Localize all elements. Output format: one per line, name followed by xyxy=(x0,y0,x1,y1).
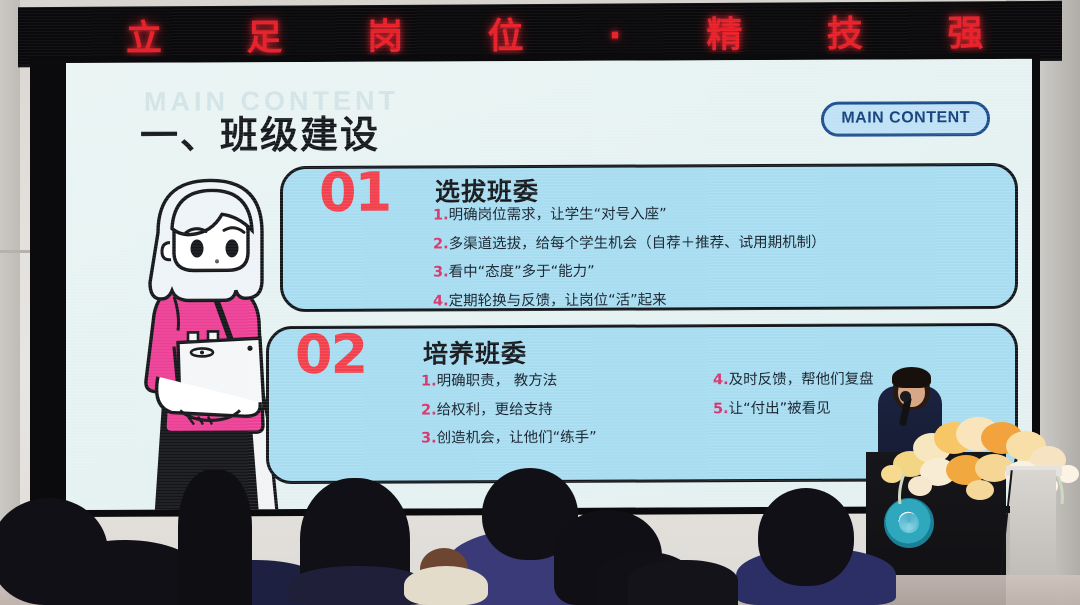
school-emblem-inner xyxy=(899,513,918,532)
list-item: 4.及时反馈，帮他们复盘 xyxy=(713,373,874,388)
bullet-text: 给权利，更给支持 xyxy=(437,401,553,418)
bullet-number: 1. xyxy=(433,207,449,223)
bullet-text: 多渠道选拔，给每个学生机会（自荐＋推荐、试用期机制） xyxy=(449,234,826,252)
presenter-hair xyxy=(892,367,931,388)
conference-room-scene: 立 足 岗 位 · 精 技 强 能 MAIN CONTENT 一、班级建设 MA… xyxy=(0,0,1080,605)
list-item: 3.看中“态度”多于“能力” xyxy=(433,264,826,280)
section-heading-02: 培养班委 xyxy=(423,334,527,370)
status-badge: MAIN CONTENT xyxy=(821,101,990,137)
bullet-text: 创造机会，让他们“练手” xyxy=(437,430,597,447)
audience-head xyxy=(178,470,252,605)
audience-head xyxy=(628,560,738,605)
bullet-list-02-left: 1.明确职责， 教方法 2.给权利，更给支持 3.创造机会，让他们“练手” xyxy=(421,374,597,460)
audience-head xyxy=(758,488,854,586)
hair-bun-wrap xyxy=(404,566,488,605)
bullet-number: 4. xyxy=(713,372,729,388)
microphone-head-icon xyxy=(900,391,911,402)
bullet-text: 及时反馈，帮他们复盘 xyxy=(729,372,874,389)
bullet-text: 让“付出”被看见 xyxy=(729,400,831,416)
wall-seam xyxy=(0,250,30,253)
list-item: 3.创造机会，让他们“练手” xyxy=(421,431,597,446)
list-item: 2.多渠道选拔，给每个学生机会（自荐＋推荐、试用期机制） xyxy=(433,235,826,251)
list-item: 1.明确岗位需求，让学生“对号入座” xyxy=(433,207,826,223)
list-item: 4.定期轮换与反馈，让岗位“活”起来 xyxy=(433,292,826,308)
bullet-text: 明确岗位需求，让学生“对号入座” xyxy=(449,206,667,223)
bullet-number: 1. xyxy=(421,373,437,389)
section-number-01: 01 xyxy=(319,161,390,224)
list-item: 2.给权利，更给支持 xyxy=(421,402,597,417)
bullet-number: 2. xyxy=(421,402,437,418)
bullet-number: 2. xyxy=(433,236,449,252)
bullet-number: 5. xyxy=(713,401,729,417)
list-item: 5.让“付出”被看见 xyxy=(713,401,874,416)
section-number-02: 02 xyxy=(295,323,366,386)
section-heading-01: 选拔班委 xyxy=(435,172,539,208)
bullet-number: 3. xyxy=(433,264,449,280)
content-card-01: 01 选拔班委 1.明确岗位需求，让学生“对号入座” 2.多渠道选拔，给每个学生… xyxy=(280,163,1018,312)
bullet-list-02-right: 4.及时反馈，帮他们复盘 5.让“付出”被看见 xyxy=(713,373,874,431)
bullet-text: 明确职责， 教方法 xyxy=(437,373,558,390)
bullet-number: 3. xyxy=(421,430,437,446)
bullet-text: 定期轮换与反馈，让岗位“活”起来 xyxy=(449,292,667,309)
bullet-list-01: 1.明确岗位需求，让学生“对号入座” 2.多渠道选拔，给每个学生机会（自荐＋推荐… xyxy=(433,207,826,323)
list-item: 1.明确职责， 教方法 xyxy=(421,374,597,389)
bullet-number: 4. xyxy=(433,293,449,309)
page-title: 一、班级建设 xyxy=(140,104,380,160)
bullet-text: 看中“态度”多于“能力” xyxy=(449,264,595,281)
